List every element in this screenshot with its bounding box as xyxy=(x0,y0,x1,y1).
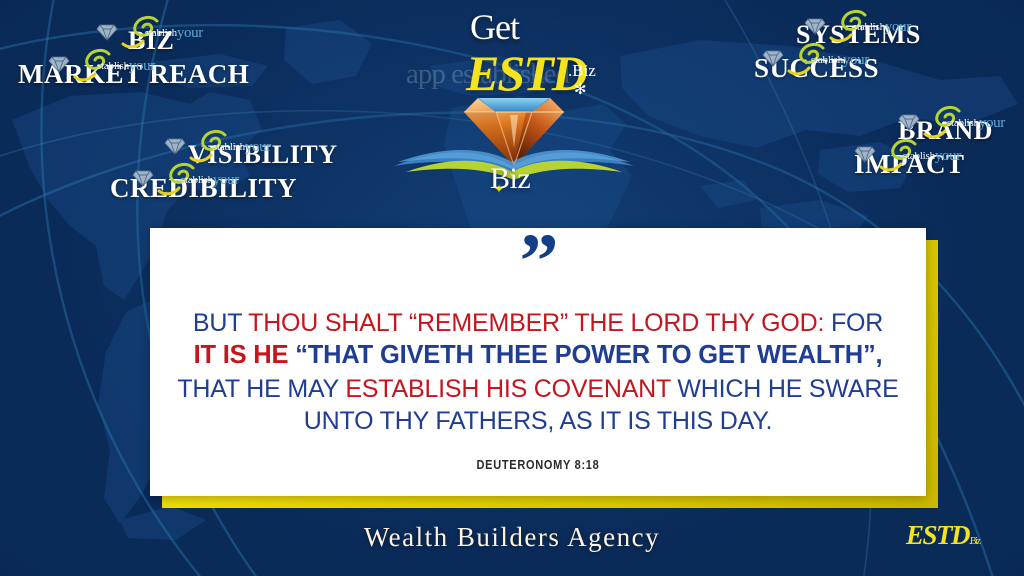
quote-line-3: THAT HE MAY ESTABLISH HIS COVENANT WHICH… xyxy=(176,373,900,406)
badge-your-label: your xyxy=(177,25,203,41)
badge-group-biz-market-reach: stablishyour BIZ stablishyour MARKET REA… xyxy=(18,14,249,81)
quote-seg: BUT xyxy=(193,309,248,337)
badge-your-label: your xyxy=(843,52,869,68)
logo-biz-superscript: .Biz xyxy=(568,61,596,81)
quote-seg: ESTABLISH HIS COVENANT xyxy=(345,375,670,403)
logo-get-word: Get xyxy=(470,6,519,48)
quote-line-1: BUT THOU SHALT “REMEMBER” THE LORD THY G… xyxy=(176,307,900,340)
badge-stablish-label: stablish xyxy=(181,174,213,186)
diamond-icon xyxy=(48,56,70,73)
diamond-icon xyxy=(898,114,920,131)
quote-seg: WHICH HE SWARE xyxy=(671,375,899,403)
badge-your-label: your xyxy=(979,115,1005,131)
diamond-icon xyxy=(164,138,186,155)
quote-seg: IT IS HE xyxy=(194,341,289,369)
quote-seg: UNTO THY FATHERS, AS IT IS THIS DAY. xyxy=(304,407,772,435)
logo-biz-star-icon: ✦ xyxy=(494,182,504,196)
badge-stablish-label: stablish xyxy=(213,141,245,153)
diamond-icon xyxy=(762,50,784,67)
badge-your-label: your xyxy=(935,148,961,164)
badge-your-label: your xyxy=(129,58,155,74)
badge-stablish-label: stablish xyxy=(947,117,979,129)
quote-seg: THOU SHALT “REMEMBER” THE LORD THY GOD: xyxy=(248,309,824,337)
footer-brand-name: Wealth Builders Agency xyxy=(0,522,1024,553)
logo-star-icon: ✻ xyxy=(574,80,587,98)
badge-credibility: stablishyour CREDIBILITY xyxy=(104,161,338,201)
badge-impact: stablishyour IMPACT xyxy=(818,137,1005,177)
quote-citation: DEUTERONOMY 8:18 xyxy=(219,458,856,472)
badge-group-systems-success: stablishyour SYSTEMS stablishyour SUCCES… xyxy=(726,8,921,75)
badge-stablish-label: stablish xyxy=(811,54,843,66)
center-logo-get-estd-biz: app established Get ESTD .Biz ✻ xyxy=(398,4,630,202)
badge-your-label: your xyxy=(885,19,911,35)
badge-group-brand-impact: stablishyour BRAND stablishyour IMPACT xyxy=(818,104,1005,171)
quote-mark-icon: ” xyxy=(150,240,926,283)
badge-stablish-label: stablish xyxy=(853,21,885,33)
quote-seg: THAT HE MAY xyxy=(177,375,345,403)
quote-line-4: UNTO THY FATHERS, AS IT IS THIS DAY. xyxy=(176,405,900,438)
badge-stablish-label: stablish xyxy=(97,60,129,72)
footer-logo-superscript: .Biz xyxy=(969,536,979,547)
badge-market-reach: stablishyour MARKET REACH xyxy=(18,47,249,87)
badge-group-visibility-credibility: stablishyour VISIBILITY stablishyour CRE… xyxy=(104,128,338,195)
badge-your-label: your xyxy=(213,172,239,188)
diamond-icon xyxy=(96,24,118,41)
badge-success: stablishyour SUCCESS xyxy=(726,41,921,81)
badge-stablish-label: stablish xyxy=(145,27,177,39)
quote-seg: “THAT GIVETH THEE POWER TO GET WEALTH”, xyxy=(288,341,882,369)
quote-line-2: IT IS HE “THAT GIVETH THEE POWER TO GET … xyxy=(176,339,900,372)
quote-seg: FOR xyxy=(824,309,883,337)
diamond-icon xyxy=(804,18,826,35)
badge-stablish-label: stablish xyxy=(903,150,935,162)
quote-card: ” BUT THOU SHALT “REMEMBER” THE LORD THY… xyxy=(150,228,926,496)
footer-estd-logo: ESTD.Biz xyxy=(906,520,979,551)
diamond-icon xyxy=(132,170,154,187)
diamond-icon xyxy=(854,146,876,163)
badge-your-label: your xyxy=(245,139,271,155)
quote-text-block: BUT THOU SHALT “REMEMBER” THE LORD THY G… xyxy=(150,307,926,472)
slide-canvas: stablishyour BIZ stablishyour MARKET REA… xyxy=(0,0,1024,576)
footer-logo-text: ESTD xyxy=(906,520,969,550)
